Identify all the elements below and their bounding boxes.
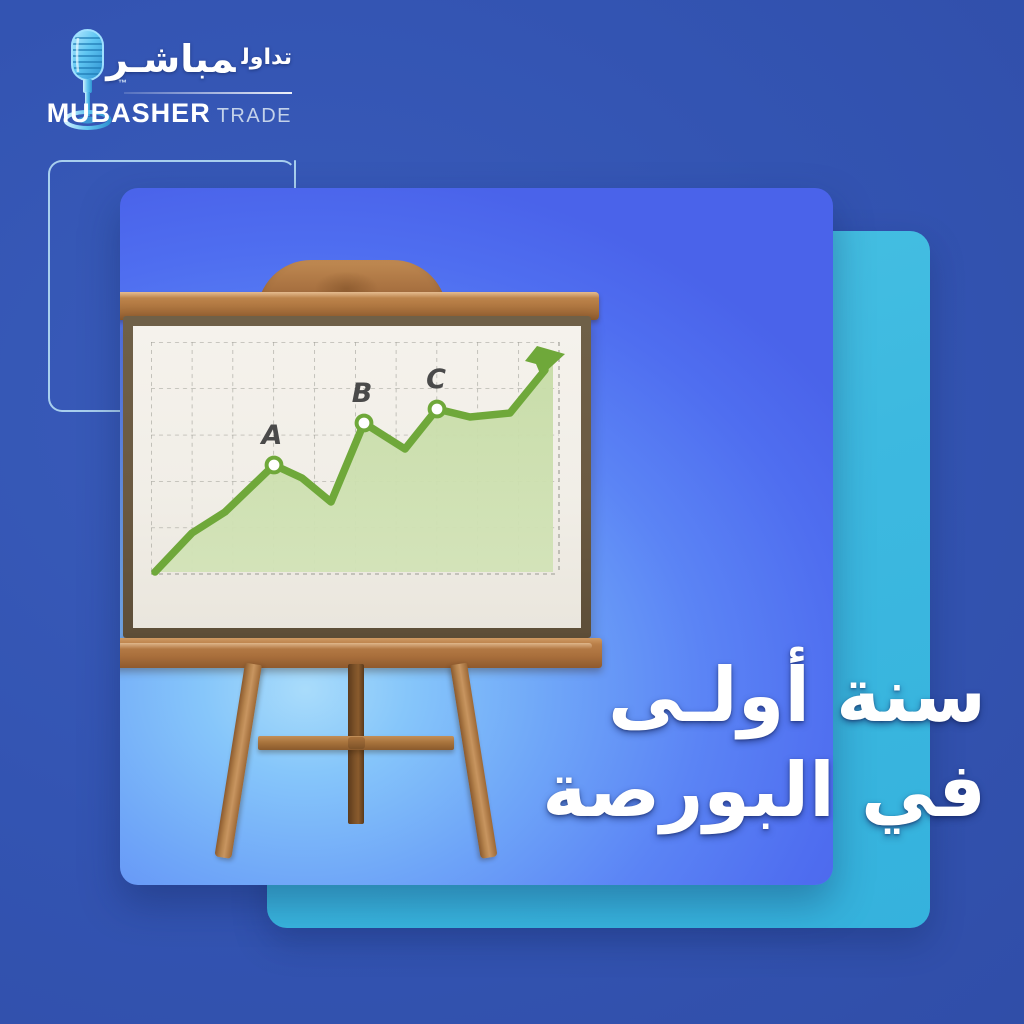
chart-marker-label-a: A bbox=[260, 420, 283, 451]
logo-en-secondary: TRADE bbox=[211, 105, 292, 127]
chart-marker-label-c: C bbox=[426, 364, 446, 395]
logo-wordmark: تداولمباشـر MUBASHERTRADE bbox=[122, 34, 292, 138]
whiteboard-frame: A B C bbox=[123, 316, 591, 638]
logo-latin-text: MUBASHERTRADE bbox=[47, 98, 292, 129]
easel-crossbar-knob bbox=[348, 737, 365, 749]
chart-marker-a bbox=[267, 458, 282, 473]
brand-logo[interactable]: تداولمباشـر MUBASHERTRADE ™ bbox=[60, 26, 290, 142]
logo-arabic-main: مباشـر bbox=[106, 37, 235, 81]
trademark-symbol: ™ bbox=[118, 78, 127, 88]
poster-canvas: A B C سنة أولـى في البورصة bbox=[0, 0, 1024, 1024]
logo-en-primary: MUBASHER bbox=[47, 98, 211, 128]
headline-line-2: في البورصة bbox=[542, 743, 986, 838]
chart-marker-c bbox=[430, 402, 445, 417]
growth-chart: A B C bbox=[133, 326, 581, 628]
headline-line-1: سنة أولـى bbox=[542, 648, 986, 743]
logo-arabic-sub: تداول bbox=[236, 45, 292, 70]
chart-marker-label-b: B bbox=[352, 378, 373, 409]
whiteboard-surface: A B C bbox=[133, 326, 581, 628]
logo-arabic-text: تداولمباشـر bbox=[106, 40, 292, 78]
easel-leg-right bbox=[450, 663, 497, 859]
headline-block: سنة أولـى في البورصة bbox=[542, 648, 986, 837]
chart-marker-b bbox=[357, 416, 372, 431]
logo-divider bbox=[124, 92, 292, 94]
easel-leg-left bbox=[214, 663, 261, 859]
